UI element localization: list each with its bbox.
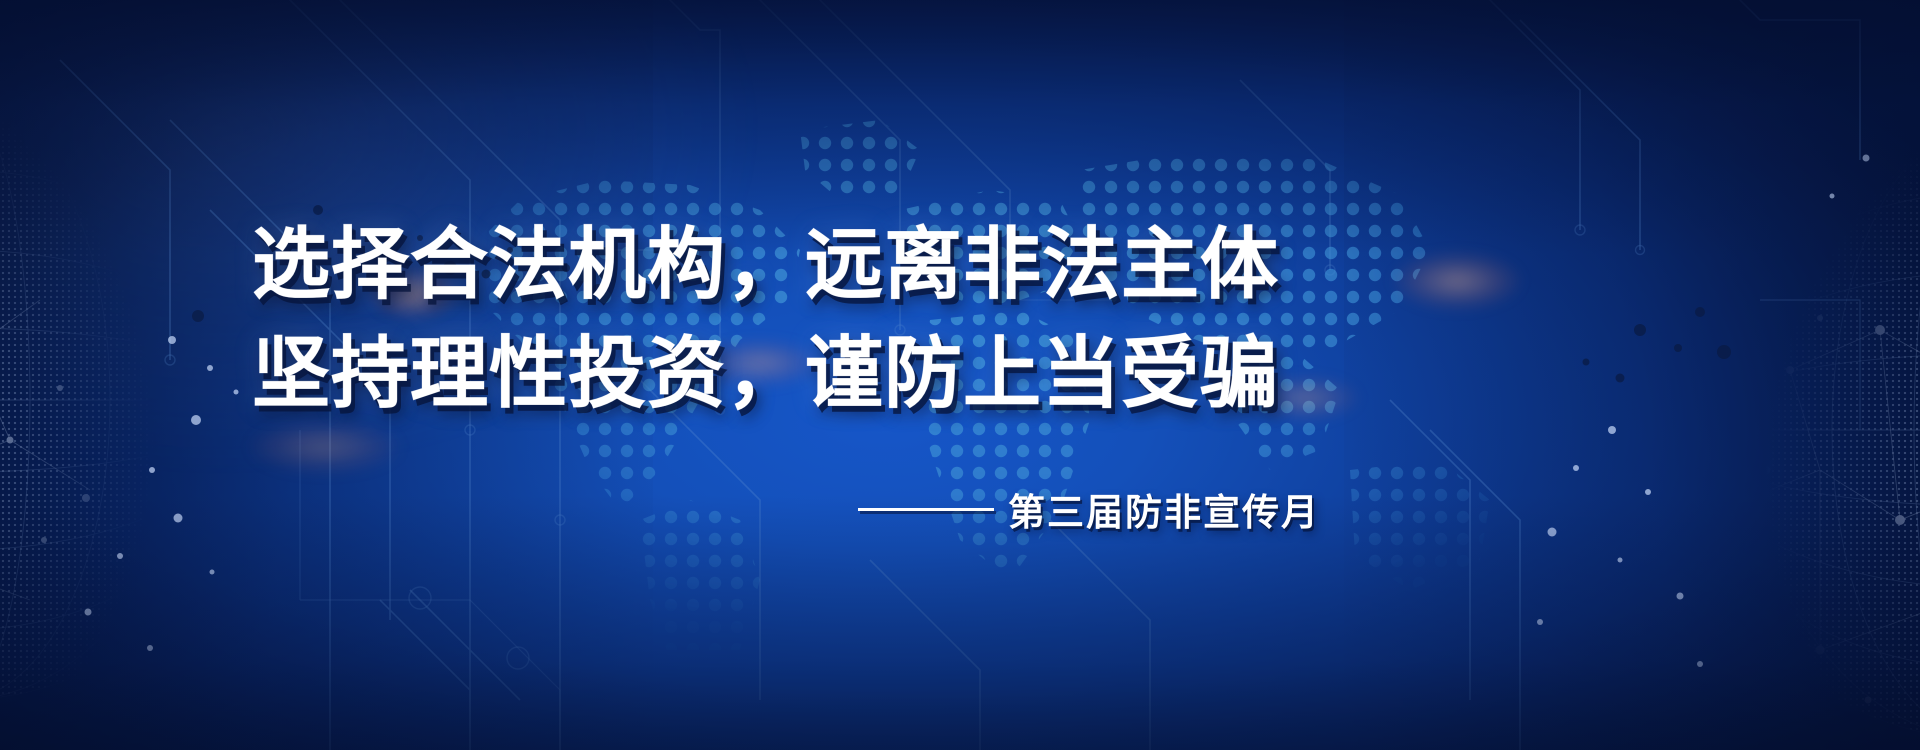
headline-line-1: 选择合法机构，远离非法主体 bbox=[252, 214, 1920, 315]
em-dash-rule-icon bbox=[858, 508, 994, 511]
banner-content: 选择合法机构，远离非法主体 坚持理性投资，谨防上当受骗 第三届防非宣传月 bbox=[0, 0, 1920, 750]
promo-banner: 选择合法机构，远离非法主体 坚持理性投资，谨防上当受骗 第三届防非宣传月 bbox=[0, 0, 1920, 750]
headline-line-2: 坚持理性投资，谨防上当受骗 bbox=[252, 323, 1920, 424]
subtitle-text: 第三届防非宣传月 bbox=[1008, 482, 1320, 536]
subtitle-row: 第三届防非宣传月 bbox=[252, 482, 1320, 536]
